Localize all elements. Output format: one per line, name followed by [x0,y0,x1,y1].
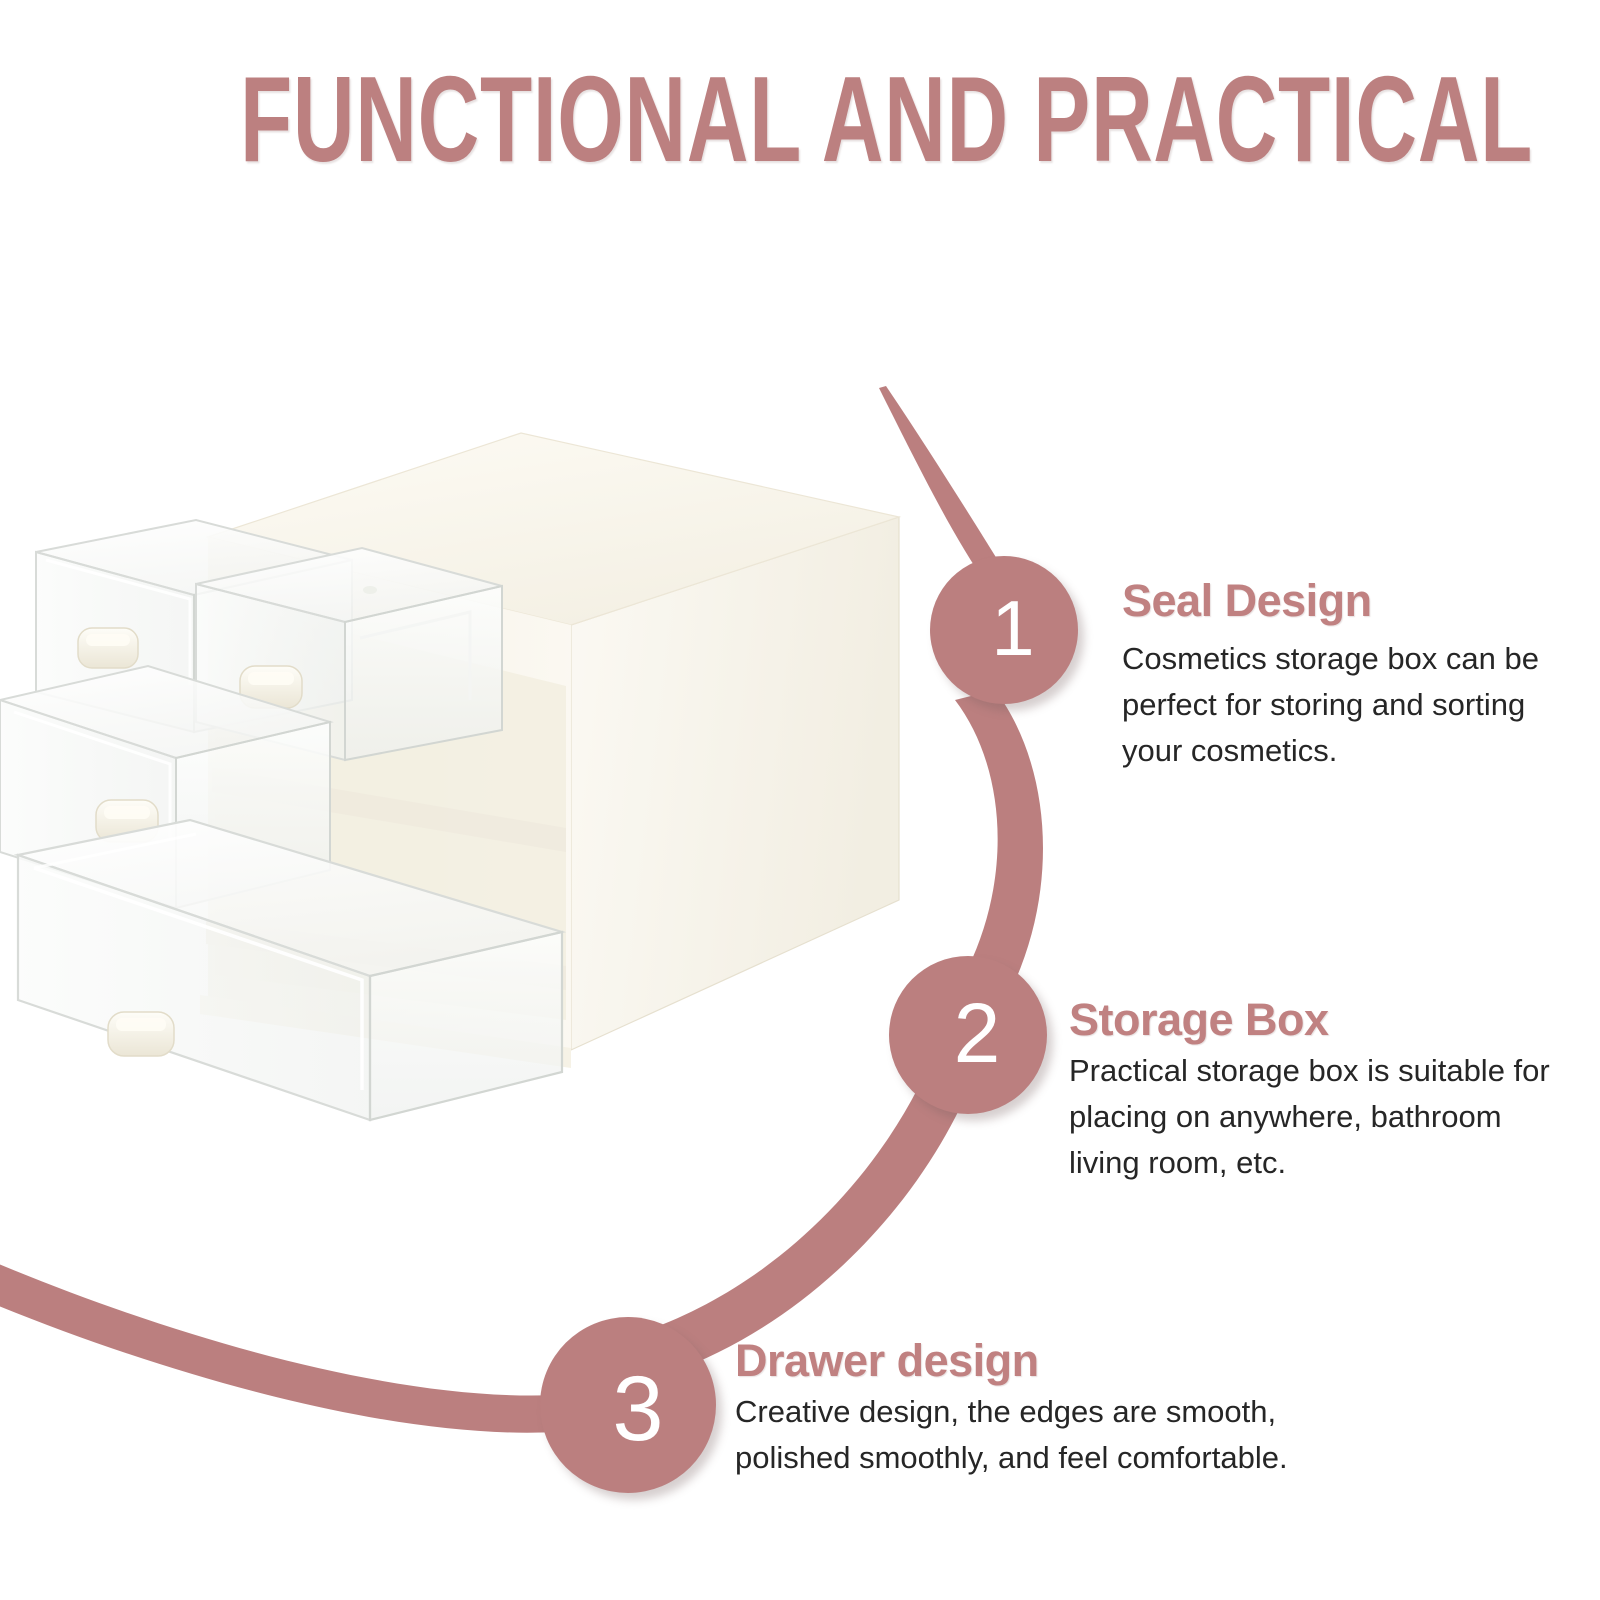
feature-heading-3: Drawer design [735,1336,1395,1386]
product-image [0,400,920,1300]
feature-heading-1: Seal Design [1122,576,1562,626]
step-number-1: 1 [991,583,1034,674]
step-circle-1[interactable]: 1 [930,556,1078,704]
feature-body-1: Cosmetics storage box can be perfect for… [1122,636,1562,774]
feature-block-1: Seal Design Cosmetics storage box can be… [1122,576,1562,774]
step-circle-3[interactable]: 3 [540,1317,716,1493]
step-number-2: 2 [954,985,1001,1082]
feature-block-3: Drawer design Creative design, the edges… [735,1336,1395,1481]
step-circle-2[interactable]: 2 [889,956,1047,1114]
feature-body-2: Practical storage box is suitable for pl… [1069,1048,1561,1186]
feature-block-2: Storage Box Practical storage box is sui… [1069,995,1561,1186]
page-title: FUNCTIONAL AND PRACTICAL [240,58,1360,180]
infographic-page: FUNCTIONAL AND PRACTICAL [0,0,1600,1600]
product-illustration-svg [0,400,920,1300]
step-number-3: 3 [612,1357,663,1462]
feature-body-3: Creative design, the edges are smooth, p… [735,1389,1395,1481]
feature-heading-2: Storage Box [1069,995,1561,1045]
